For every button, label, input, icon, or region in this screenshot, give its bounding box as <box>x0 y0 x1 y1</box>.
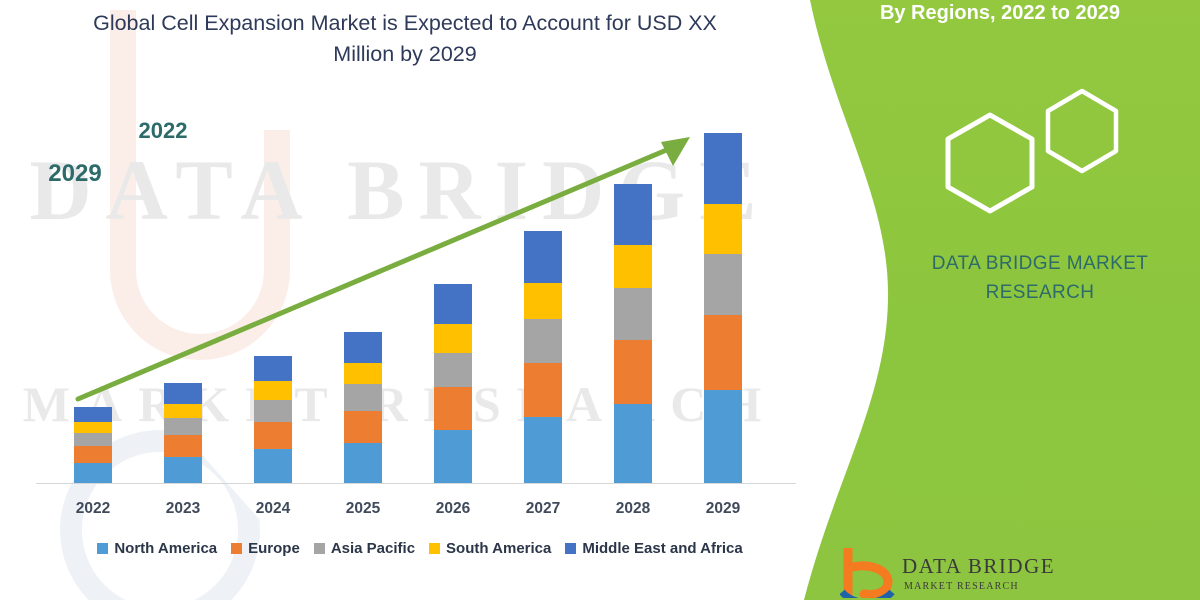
legend-swatch-icon <box>97 543 108 554</box>
legend-swatch-icon <box>565 543 576 554</box>
bar-segment[interactable] <box>344 332 382 363</box>
bar-column[interactable] <box>524 231 562 483</box>
bar-column[interactable] <box>74 407 112 483</box>
legend-swatch-icon <box>429 543 440 554</box>
x-axis-line <box>36 483 796 484</box>
legend-item[interactable]: Asia Pacific <box>314 540 415 557</box>
x-axis-label: 2023 <box>143 500 223 518</box>
bar-segment[interactable] <box>254 449 292 483</box>
hexagon-label-2029: 2029 <box>28 160 122 188</box>
legend-item[interactable]: South America <box>429 540 551 557</box>
footer-logo: DATA BRIDGE MARKET RESEARCH <box>840 548 1180 600</box>
bar-segment[interactable] <box>74 433 112 446</box>
hexagon-shapes-icon <box>930 85 1160 225</box>
bar-segment[interactable] <box>614 245 652 288</box>
bar-segment[interactable] <box>74 463 112 483</box>
chart-legend: North AmericaEuropeAsia PacificSouth Ame… <box>40 540 800 557</box>
bar-column[interactable] <box>344 332 382 483</box>
x-axis-label: 2024 <box>233 500 313 518</box>
bar-segment[interactable] <box>74 407 112 422</box>
bar-segment[interactable] <box>434 430 472 483</box>
bar-segment[interactable] <box>344 411 382 444</box>
bar-segment[interactable] <box>524 363 562 417</box>
bar-column[interactable] <box>704 133 742 483</box>
hexagon-group <box>930 85 1160 225</box>
bar-segment[interactable] <box>74 422 112 433</box>
bar-segment[interactable] <box>164 457 202 483</box>
data-bridge-logo-icon <box>840 548 898 598</box>
logo-wordmark: DATA BRIDGE <box>902 554 1055 579</box>
bar-segment[interactable] <box>164 435 202 456</box>
bar-segment[interactable] <box>254 356 292 381</box>
bar-column[interactable] <box>614 184 652 483</box>
legend-label: South America <box>446 540 551 557</box>
bar-segment[interactable] <box>704 133 742 204</box>
legend-swatch-icon <box>231 543 242 554</box>
bar-segment[interactable] <box>344 363 382 384</box>
x-axis-label: 2022 <box>53 500 133 518</box>
bar-segment[interactable] <box>254 381 292 399</box>
x-axis-label: 2029 <box>683 500 763 518</box>
bar-segment[interactable] <box>344 384 382 410</box>
bar-column[interactable] <box>434 284 472 483</box>
legend-label: Middle East and Africa <box>582 540 742 557</box>
bar-segment[interactable] <box>704 254 742 315</box>
bar-segment[interactable] <box>614 184 652 245</box>
bar-segment[interactable] <box>704 204 742 254</box>
hexagon-label-2022: 2022 <box>120 118 206 144</box>
infographic-canvas: DATA BRIDGE MARKET RESEARCH 202220232024… <box>0 0 1200 600</box>
bar-segment[interactable] <box>524 283 562 320</box>
panel-heading: By Regions, 2022 to 2029 <box>800 2 1200 25</box>
bar-segment[interactable] <box>524 231 562 283</box>
legend-item[interactable]: Middle East and Africa <box>565 540 742 557</box>
bar-segment[interactable] <box>704 315 742 390</box>
legend-label: North America <box>114 540 217 557</box>
bar-segment[interactable] <box>704 390 742 483</box>
bar-segment[interactable] <box>434 387 472 430</box>
bar-segment[interactable] <box>434 284 472 325</box>
x-axis-label: 2028 <box>593 500 673 518</box>
bar-segment[interactable] <box>164 383 202 403</box>
legend-label: Europe <box>248 540 300 557</box>
x-axis-label: 2026 <box>413 500 493 518</box>
logo-tagline: MARKET RESEARCH <box>904 581 1019 592</box>
bar-segment[interactable] <box>74 446 112 462</box>
legend-item[interactable]: Europe <box>231 540 300 557</box>
x-axis-label: 2027 <box>503 500 583 518</box>
x-axis-label: 2025 <box>323 500 403 518</box>
bar-segment[interactable] <box>614 288 652 340</box>
bar-segment[interactable] <box>434 324 472 352</box>
chart-area: 20222023202420252026202720282029 <box>0 0 800 540</box>
bar-column[interactable] <box>254 356 292 483</box>
bar-column[interactable] <box>164 383 202 483</box>
bar-segment[interactable] <box>164 404 202 418</box>
bar-segment[interactable] <box>254 422 292 449</box>
legend-label: Asia Pacific <box>331 540 415 557</box>
chart-title: Global Cell Expansion Market is Expected… <box>60 8 750 70</box>
brand-name: DATA BRIDGE MARKET RESEARCH <box>880 250 1200 307</box>
legend-swatch-icon <box>314 543 325 554</box>
bar-segment[interactable] <box>524 319 562 363</box>
bar-segment[interactable] <box>164 418 202 435</box>
bar-segment[interactable] <box>254 400 292 422</box>
bar-segment[interactable] <box>614 404 652 483</box>
legend-item[interactable]: North America <box>97 540 217 557</box>
bars-container <box>0 0 800 483</box>
bar-segment[interactable] <box>524 417 562 483</box>
bar-segment[interactable] <box>434 353 472 388</box>
bar-segment[interactable] <box>614 340 652 404</box>
bar-segment[interactable] <box>344 443 382 483</box>
